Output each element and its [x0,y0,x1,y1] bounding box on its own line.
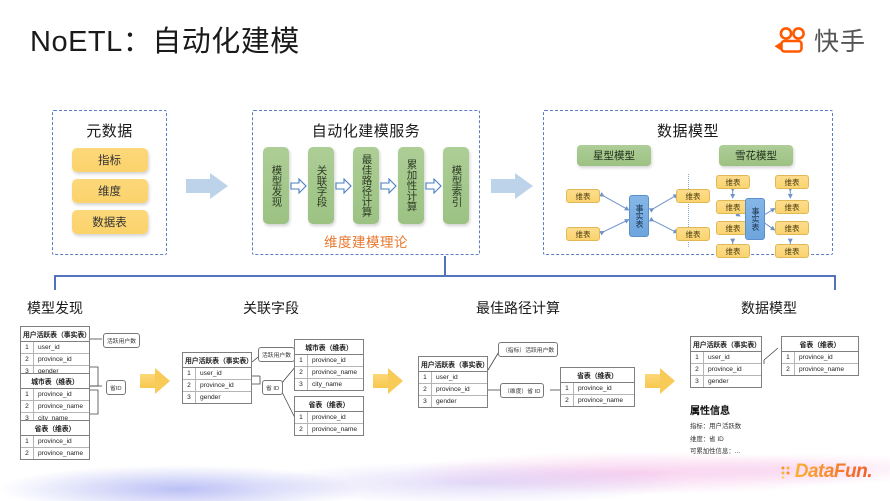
stage3-table-2-caption: 省表（维表） [561,368,634,383]
snow-dim-5: 维表 [775,175,809,189]
table-row: 2province_id [21,354,89,366]
stage4-table-1-caption: 用户活跃表（事实表） [691,337,761,352]
stage4-table-2: 省表（维表） 1province_id 2province_name [781,336,859,376]
stage2-table-3: 省表（维表） 1province_id 2province_name [294,396,364,436]
row-field: user_id [704,352,734,363]
step-arrow-3 [380,178,397,194]
stage2-chip-province-id: 省 ID [262,380,283,395]
kuaishou-camera-icon [773,27,807,53]
row-field: user_id [34,342,64,353]
table-row: 1user_id [691,352,761,364]
stage1-chip-province-id: 省ID [106,380,126,395]
stage3-chip-metric: （指标）活跃用户数 [498,342,558,357]
table-row: 1user_id [419,372,487,384]
row-field: gender [704,376,733,387]
metadata-panel-title: 元数据 [53,120,166,141]
row-field: province_id [432,384,474,395]
row-number: 1 [295,412,308,423]
stage-title-data-model: 数据模型 [741,298,797,318]
row-field: province_name [308,367,361,378]
row-number: 1 [561,383,574,394]
snow-dim-6: 维表 [775,200,809,214]
page-title: NoETL：自动化建模 [30,18,300,60]
snowflake-fact-table: 事实表 [745,198,765,240]
row-number: 3 [295,379,308,390]
row-number: 1 [782,352,795,363]
slide-canvas: NoETL：自动化建模 快手 元数据 指标 维度 数据表 自动化建模服务 模型发… [0,0,890,501]
star-fact-table: 事实表 [629,195,649,237]
row-field: province_id [308,412,350,423]
stage1-table-2: 城市表（维表） 1province_id 2province_name 3cit… [20,373,90,425]
row-field: province_name [795,364,848,375]
metadata-card-table: 数据表 [72,210,148,234]
row-field: province_id [34,354,76,365]
snow-dim-7: 维表 [775,221,809,235]
snow-dim-1: 维表 [716,175,750,189]
table-row: 3city_name [295,379,363,390]
row-field: user_id [196,368,226,379]
service-step-best-path: 最佳路径计算 [353,147,379,224]
row-number: 2 [183,380,196,391]
star-dim-4: 维表 [676,227,710,241]
stage2-table-2: 城市表（维表） 1province_id 2province_name 3cit… [294,339,364,391]
service-step-row: 模型发现 关联字段 最佳路径计算 累加性计算 模型索引 [253,147,479,224]
table-row: 1province_id [21,389,89,401]
datafun-label: DataFun. [795,461,872,483]
stage4-table-1: 用户活跃表（事实表） 1user_id 2province_id 3gender [690,336,762,388]
step-arrow-1 [290,178,307,194]
metadata-card-metric: 指标 [72,148,148,172]
table-row: 1user_id [183,368,251,380]
star-model-head: 星型模型 [577,145,651,166]
row-field: province_id [795,352,837,363]
attributes-line-metric: 指标：用户活跃数 [690,421,741,430]
row-number: 3 [183,392,196,403]
table-row: 2province_name [295,424,363,435]
row-field: province_id [34,389,76,400]
service-step-join-fields: 关联字段 [308,147,334,224]
row-field: province_name [34,401,87,412]
row-field: province_name [34,448,87,459]
stage-arrow-2 [373,368,403,394]
table-row: 1province_id [561,383,634,395]
stage-arrow-3 [645,368,675,394]
star-dim-3: 维表 [676,189,710,203]
row-number: 1 [21,389,34,400]
row-field: province_id [308,355,350,366]
flow-arrow-1 [186,173,228,199]
stage1-table-3-caption: 省表（维表） [21,421,89,436]
table-row: 3gender [183,392,251,403]
row-field: gender [196,392,225,403]
row-number: 2 [782,364,795,375]
table-row: 2province_id [691,364,761,376]
metadata-card-dimension: 维度 [72,179,148,203]
row-field: province_name [574,395,627,406]
stage3-chip-dimension: （维度）省 ID [500,383,544,398]
table-row: 2province_name [561,395,634,406]
row-field: city_name [308,379,346,390]
step-arrow-4 [425,178,442,194]
row-number: 2 [295,424,308,435]
stage1-table-3: 省表（维表） 1province_id 2province_name [20,420,90,460]
row-number: 1 [21,342,34,353]
stage-title-best-path: 最佳路径计算 [476,298,560,318]
attributes-title: 属性信息 [690,402,741,417]
stage3-table-1: 用户活跃表（事实表） 1user_id 2province_id 3gender [418,356,488,408]
row-number: 2 [21,448,34,459]
data-models-panel: 数据模型 星型模型 [543,110,833,255]
service-panel-footer: 维度建模理论 [253,231,479,251]
row-number: 1 [419,372,432,383]
service-panel: 自动化建模服务 模型发现 关联字段 最佳路径计算 累加性计算 模型索引 维度建模… [252,110,480,255]
stage1-chip-active-users: 活跃用户数 [103,333,140,348]
step-arrow-2 [335,178,352,194]
stage-title-join-fields: 关联字段 [243,298,299,318]
row-number: 3 [691,376,704,387]
stage4-attributes: 属性信息 指标：用户活跃数 维度：省 ID 可累加性信息：... [690,402,741,459]
stage2-chip-active-users: 活跃用户数 [258,347,295,362]
stage2-table-1-caption: 用户活跃表（事实表） [183,353,251,368]
row-number: 1 [21,436,34,447]
table-row: 2province_name [782,364,858,375]
table-row: 2province_id [419,384,487,396]
stage2-table-1: 用户活跃表（事实表） 1user_id 2province_id 3gender [182,352,252,404]
table-row: 2province_name [295,367,363,379]
row-number: 1 [691,352,704,363]
star-dim-1: 维表 [566,189,600,203]
datafun-dots-icon [780,464,793,480]
row-number: 2 [21,354,34,365]
table-row: 2province_id [183,380,251,392]
row-number: 1 [183,368,196,379]
datafun-logo: DataFun. [780,461,872,483]
table-row: 1user_id [21,342,89,354]
row-number: 2 [691,364,704,375]
row-field: province_id [704,364,746,375]
service-step-model-discovery: 模型发现 [263,147,289,224]
row-field: province_name [308,424,361,435]
stage-arrow-1 [140,368,170,394]
flow-arrow-2 [491,173,533,199]
row-number: 2 [419,384,432,395]
table-row: 1province_id [295,355,363,367]
star-dim-2: 维表 [566,227,600,241]
stage4-detail: 用户活跃表（事实表） 1user_id 2province_id 3gender… [686,330,866,450]
table-row: 1province_id [295,412,363,424]
stage4-table-2-caption: 省表（维表） [782,337,858,352]
row-number: 3 [419,396,432,407]
row-number: 2 [561,395,574,406]
row-number: 1 [295,355,308,366]
metadata-panel: 元数据 指标 维度 数据表 [52,110,167,255]
row-field: gender [432,396,461,407]
service-panel-title: 自动化建模服务 [253,120,479,141]
table-row: 2province_name [21,448,89,459]
row-number: 2 [21,401,34,412]
stage2-detail: 用户活跃表（事实表） 1user_id 2province_id 3gender… [178,334,363,454]
table-row: 1province_id [782,352,858,364]
row-number: 2 [295,367,308,378]
table-row: 2province_name [21,401,89,413]
kuaishou-label: 快手 [814,22,866,58]
stage3-table-2: 省表（维表） 1province_id 2province_name [560,367,635,407]
snowflake-model-head: 雪花模型 [719,145,793,166]
data-models-panel-title: 数据模型 [544,120,832,141]
table-row: 1province_id [21,436,89,448]
stage-title-model-discovery: 模型发现 [27,298,83,318]
attributes-line-dimension: 维度：省 ID [690,434,741,443]
table-row: 3gender [419,396,487,407]
stage3-table-1-caption: 用户活跃表（事实表） [419,357,487,372]
row-field: province_id [574,383,616,394]
row-field: province_id [34,436,76,447]
table-row: 3gender [691,376,761,387]
stage3-detail: 用户活跃表（事实表） 1user_id 2province_id 3gender… [410,334,635,444]
row-field: province_id [196,380,238,391]
stage2-table-3-caption: 省表（维表） [295,397,363,412]
attributes-line-additivity: 可累加性信息：... [690,446,741,455]
stage-bracket-connector [52,256,838,292]
kuaishou-logo: 快手 [773,22,866,58]
stage1-table-2-caption: 城市表（维表） [21,374,89,389]
stage2-table-2-caption: 城市表（维表） [295,340,363,355]
row-field: user_id [432,372,462,383]
service-step-model-index: 模型索引 [443,147,469,224]
stage1-table-1: 用户活跃表（事实表） 1user_id 2province_id 3gender [20,326,90,378]
stage1-detail: 用户活跃表（事实表） 1user_id 2province_id 3gender… [18,324,158,454]
stage1-table-1-caption: 用户活跃表（事实表） [21,327,89,342]
service-step-additivity: 累加性计算 [398,147,424,224]
